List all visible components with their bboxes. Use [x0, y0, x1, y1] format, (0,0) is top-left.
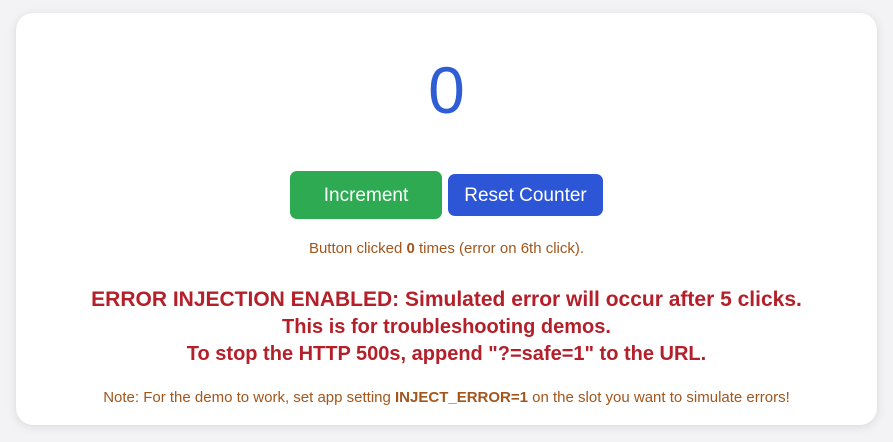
note-setting-name: INJECT_ERROR=1: [395, 389, 528, 406]
error-warning-line-3: To stop the HTTP 500s, append "?=safe=1"…: [16, 341, 877, 368]
status-count: 0: [407, 240, 415, 257]
error-warning-line-2: This is for troubleshooting demos.: [16, 314, 877, 341]
error-warning-line-1: ERROR INJECTION ENABLED: Simulated error…: [16, 286, 877, 314]
note-prefix: Note: For the demo to work, set app sett…: [103, 389, 395, 406]
app-setting-note: Note: For the demo to work, set app sett…: [16, 367, 877, 407]
card-content: 0 Increment Reset Counter Button clicked…: [16, 13, 877, 407]
counter-card: 0 Increment Reset Counter Button clicked…: [16, 13, 877, 425]
status-prefix: Button clicked: [309, 240, 407, 257]
counter-value: 0: [16, 13, 877, 123]
button-row: Increment Reset Counter: [16, 171, 877, 219]
reset-counter-button[interactable]: Reset Counter: [448, 174, 603, 216]
error-injection-warning: ERROR INJECTION ENABLED: Simulated error…: [16, 258, 877, 367]
status-suffix: times (error on 6th click).: [415, 240, 584, 257]
increment-button[interactable]: Increment: [290, 171, 442, 219]
note-suffix: on the slot you want to simulate errors!: [528, 389, 790, 406]
click-status-text: Button clicked 0 times (error on 6th cli…: [16, 219, 877, 258]
page-root: 0 Increment Reset Counter Button clicked…: [0, 0, 893, 442]
